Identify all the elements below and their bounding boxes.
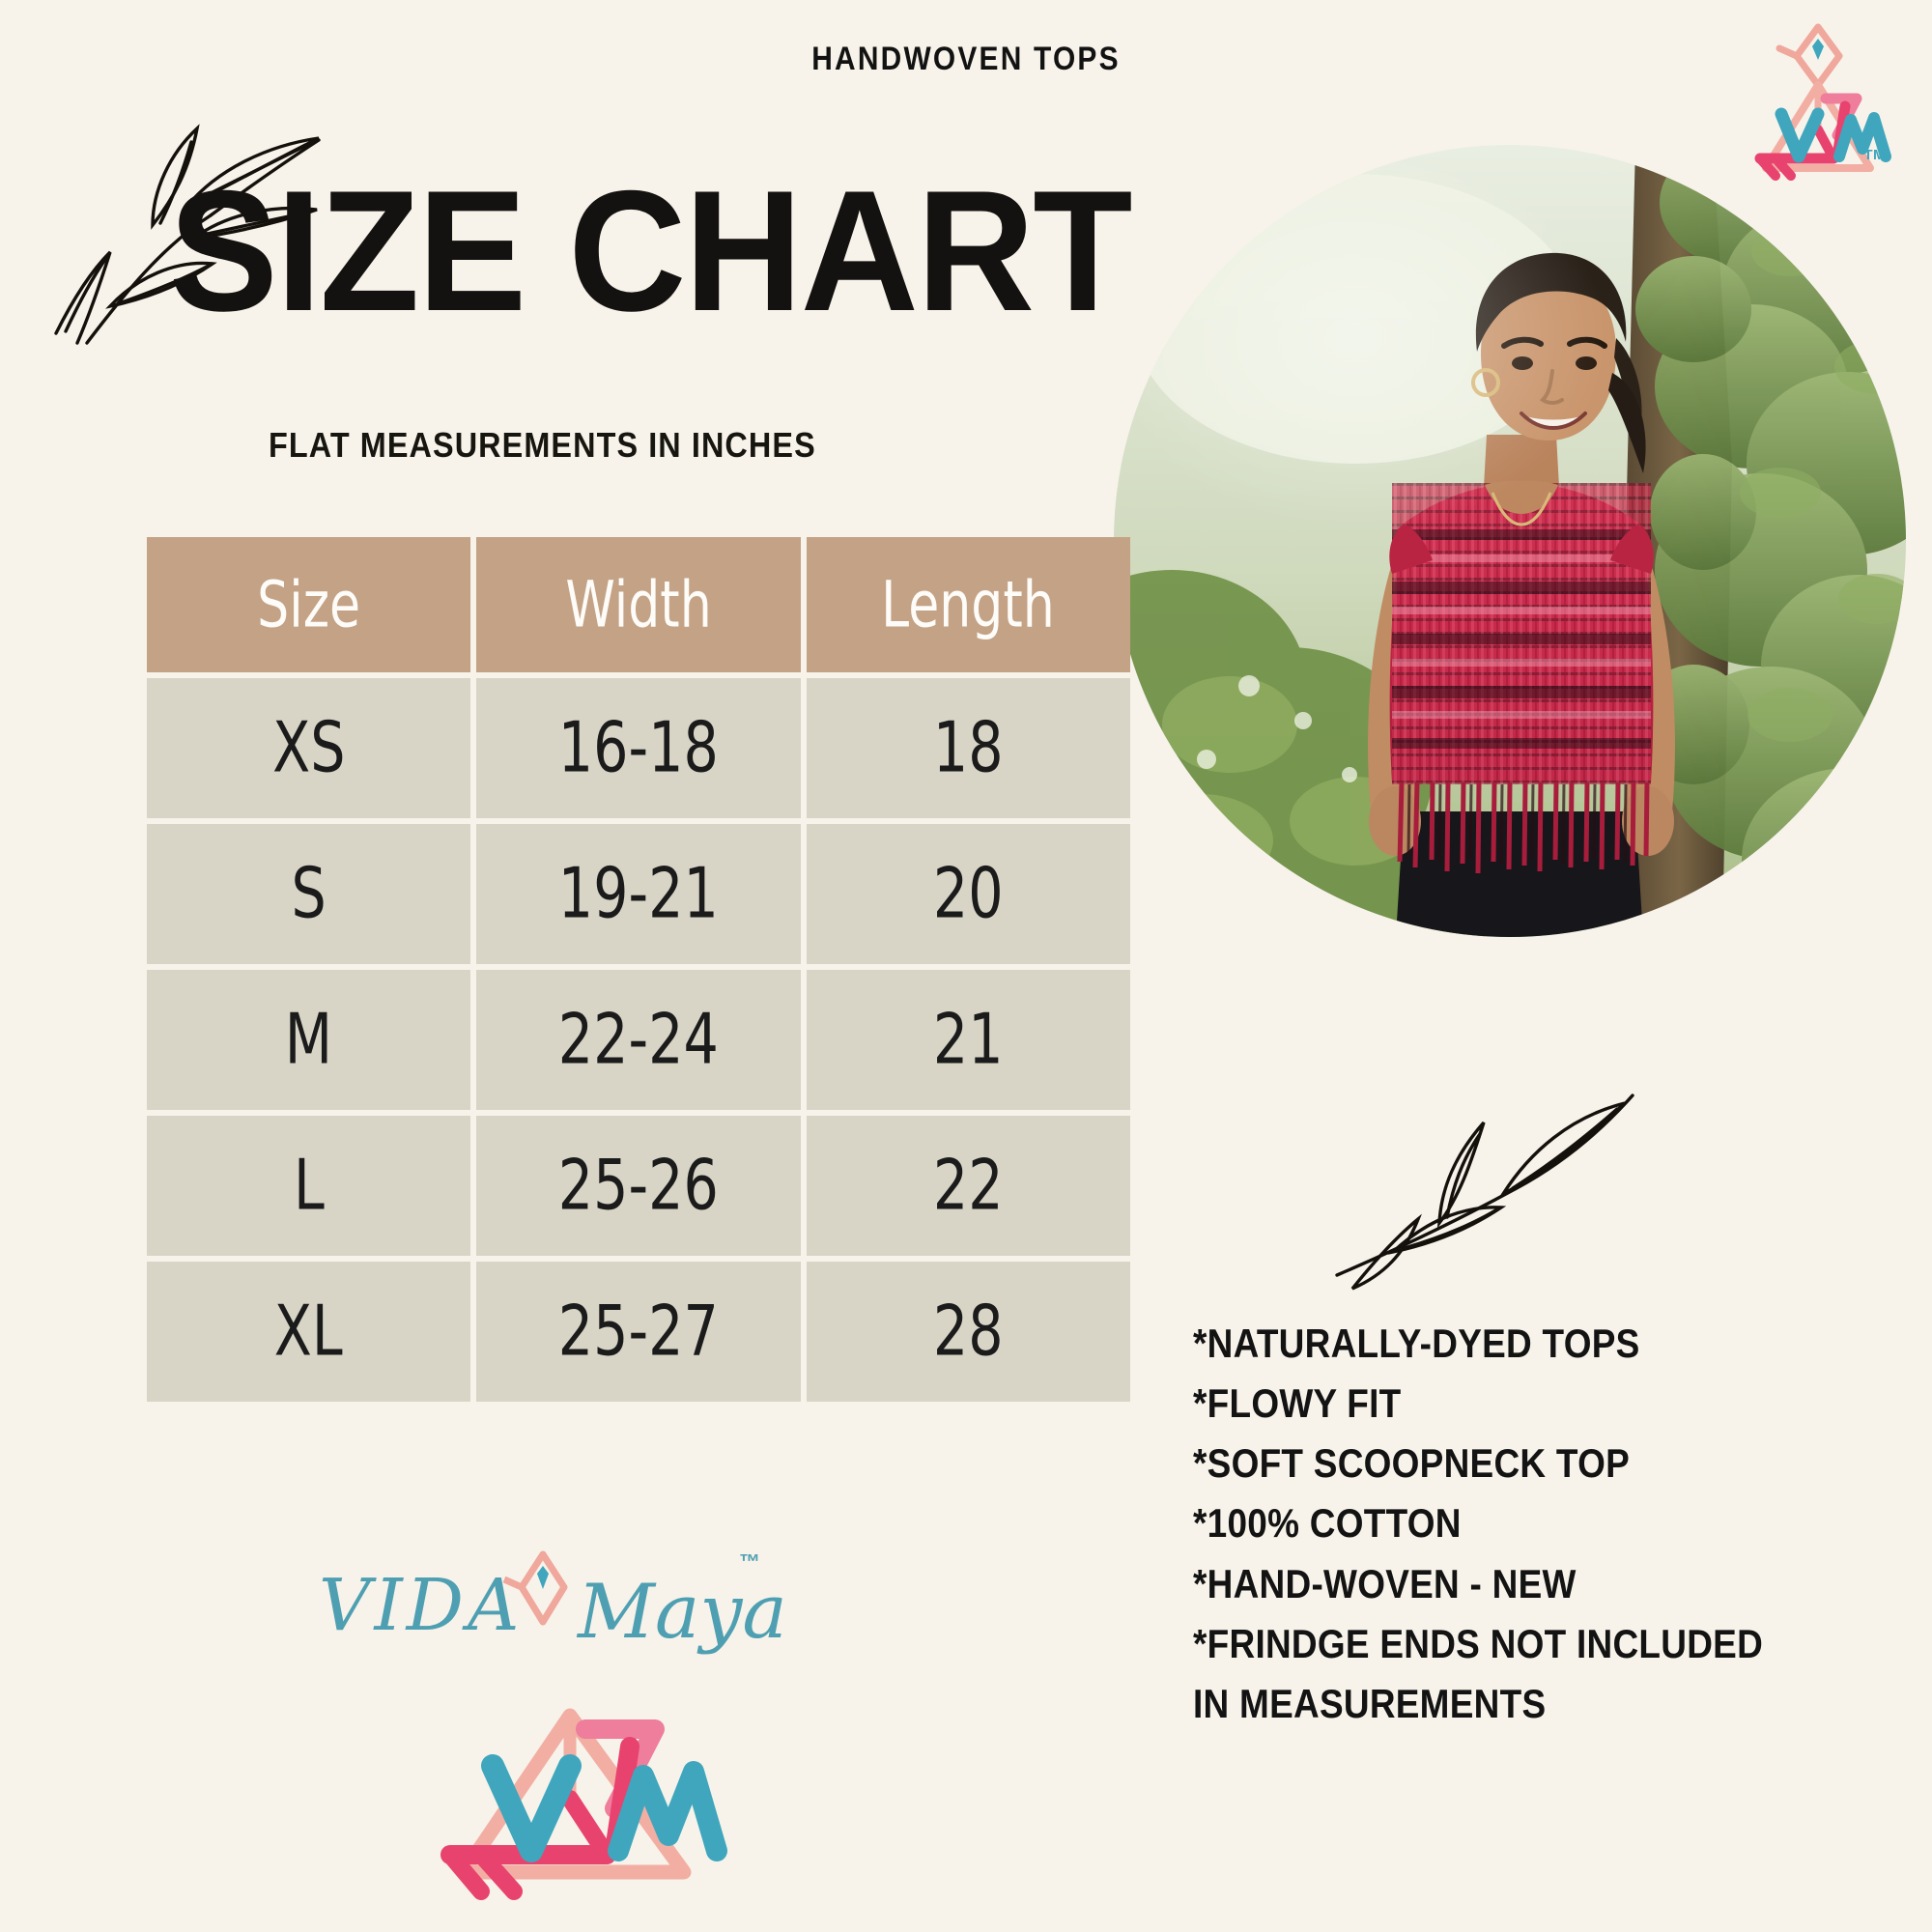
cell-size: M [147,970,470,1110]
cell-length: 20 [807,824,1130,964]
kicker-text: HANDWOVEN TOPS [116,41,1816,78]
cell-size-value: S [292,859,327,928]
cell-width-value: 16-18 [558,713,719,782]
leaf-branch-icon [1323,1053,1642,1294]
cell-size: S [147,824,470,964]
table-row: XS 16-18 18 [147,678,1130,818]
cell-length-value: 22 [933,1151,1004,1220]
cell-length: 18 [807,678,1130,818]
trademark-mark: TM [1863,147,1886,163]
list-item: *NATURALLY-DYED TOPS [1193,1314,1788,1374]
column-header-length: Length [807,537,1130,672]
page-subtitle: FLAT MEASUREMENTS IN INCHES [269,425,816,466]
cell-width-value: 25-26 [558,1151,719,1220]
cell-size-value: XS [272,713,345,782]
cell-width-value: 22-24 [558,1005,719,1074]
model-photo [1114,145,1906,937]
cell-length-value: 21 [933,1005,1004,1074]
cell-width: 25-27 [476,1262,800,1402]
cell-size-value: M [285,1005,332,1074]
cell-length: 21 [807,970,1130,1110]
list-item: *HAND-WOVEN - NEW [1193,1554,1788,1614]
table-row: S 19-21 20 [147,824,1130,964]
cell-width-value: 25-27 [558,1296,719,1366]
list-item: *100% COTTON [1193,1493,1788,1553]
cell-width: 16-18 [476,678,800,818]
vida-maya-monogram-icon [1737,14,1911,197]
cell-size: XL [147,1262,470,1402]
cell-length: 22 [807,1116,1130,1256]
column-header-length-label: Length [881,573,1055,637]
product-notes-list: *NATURALLY-DYED TOPS *FLOWY FIT *SOFT SC… [1193,1314,1869,1734]
cell-length-value: 28 [933,1296,1004,1366]
list-item: *FRINDGE ENDS NOT INCLUDED IN MEASUREMEN… [1193,1614,1788,1734]
cell-width: 19-21 [476,824,800,964]
table-row: M 22-24 21 [147,970,1130,1110]
cell-width-value: 19-21 [558,859,719,928]
size-chart-graphic: HANDWOVEN TOPS [0,0,1932,1932]
column-header-size-label: Size [257,573,360,637]
cell-size-value: XL [274,1296,343,1366]
size-table: Size Width Length XS 16-18 18 S [147,537,1130,1402]
table-row: XL 25-27 28 [147,1262,1130,1402]
vida-maya-monogram-icon [425,1592,734,1911]
table-row: L 25-26 22 [147,1116,1130,1256]
column-header-size: Size [147,537,470,672]
cell-size: L [147,1116,470,1256]
cell-size-value: L [294,1151,325,1220]
list-item: *FLOWY FIT [1193,1374,1788,1434]
table-header-row: Size Width Length [147,537,1130,672]
column-header-width-label: Width [565,573,711,637]
trademark-symbol: ™ [739,1549,760,1575]
cell-length: 28 [807,1262,1130,1402]
cell-size: XS [147,678,470,818]
cell-width: 22-24 [476,970,800,1110]
cell-length-value: 20 [933,859,1004,928]
page-title: SIZE CHART [169,169,1131,334]
column-header-width: Width [476,537,800,672]
list-item: *SOFT SCOOPNECK TOP [1193,1434,1788,1493]
cell-length-value: 18 [933,713,1004,782]
cell-width: 25-26 [476,1116,800,1256]
